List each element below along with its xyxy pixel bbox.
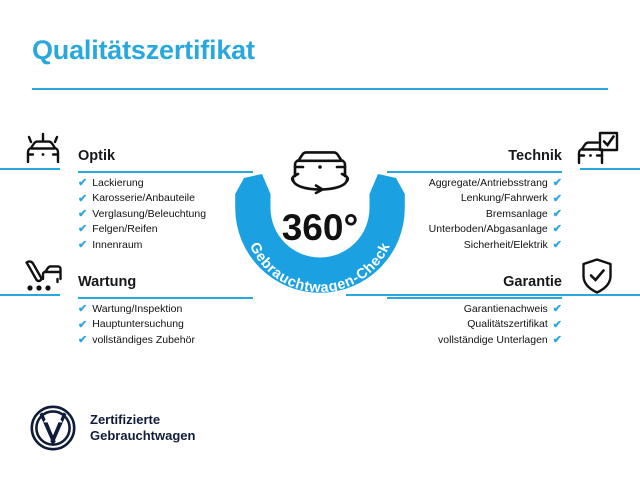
check-icon: ✔ [553,209,562,220]
list-item-label: Innenraum [92,238,142,253]
quality-certificate-page: Qualitätszertifikat Optik ✔Lackierung ✔K… [0,0,640,480]
list-item-label: Bremsanlage [486,207,548,222]
check-icon: ✔ [78,178,87,189]
check-icon: ✔ [553,304,562,315]
car-rotate-icon [292,152,348,193]
divider-top-right [580,168,640,170]
list-item: ✔Hauptuntersuchung [78,317,270,332]
check-icon: ✔ [553,194,562,205]
footer-text: Zertifizierte Gebrauchtwagen [90,412,195,444]
car-shine-icon [20,130,66,170]
check-icon: ✔ [78,304,87,315]
check-icon: ✔ [78,209,87,220]
check-icon: ✔ [553,320,562,331]
list-item-label: Verglasung/Beleuchtung [92,207,206,222]
section-title: Garantie [503,274,562,290]
shield-check-icon [574,256,620,296]
list-item-label: Garantienachweis [464,302,548,317]
list-item-label: Lackierung [92,176,143,191]
title-divider [32,88,608,90]
divider-bottom-left [0,294,60,296]
list-item: ✔vollständiges Zubehör [78,333,270,348]
list-item-label: Aggregate/Antriebsstrang [429,176,548,191]
list-item-label: Wartung/Inspektion [92,302,182,317]
wrench-car-icon [20,256,66,296]
car-checkbox-icon [574,130,620,170]
check-icon: ✔ [553,224,562,235]
check-icon: ✔ [78,224,87,235]
check-icon: ✔ [553,178,562,189]
check-icon: ✔ [553,335,562,346]
volkswagen-logo [30,405,76,451]
list-item-label: vollständiges Zubehör [92,333,195,348]
section-title: Optik [78,148,115,164]
list-item: ✔vollständige Unterlagen [370,333,562,348]
footer-line-2: Gebrauchtwagen [90,428,195,443]
divider-top-left [0,168,60,170]
list-item: ✔Qualitätszertifikat [370,317,562,332]
section-title: Wartung [78,274,136,290]
list-item-label: Lenkung/Fahrwerk [461,191,548,206]
check-icon: ✔ [78,194,87,205]
list-item-label: Qualitätszertifikat [467,317,548,332]
badge-360-gebrauchtwagen-check: 360° Gebrauchtwagen-Check [222,112,418,312]
list-item-label: Felgen/Reifen [92,222,157,237]
check-icon: ✔ [78,240,87,251]
list-item-label: Sicherheit/Elektrik [464,238,548,253]
section-title: Technik [508,148,562,164]
vw-certified-lockup: Zertifizierte Gebrauchtwagen [30,405,195,451]
page-title: Qualitätszertifikat [32,35,255,66]
list-item-label: Hauptuntersuchung [92,317,184,332]
check-icon: ✔ [78,320,87,331]
footer-line-1: Zertifizierte [90,412,160,427]
list-item-label: Unterboden/Abgasanlage [429,222,548,237]
check-icon: ✔ [78,335,87,346]
list-item-label: vollständige Unterlagen [438,333,548,348]
list-item-label: Karosserie/Anbauteile [92,191,195,206]
check-icon: ✔ [553,240,562,251]
badge-center-label: 360° [282,207,359,248]
